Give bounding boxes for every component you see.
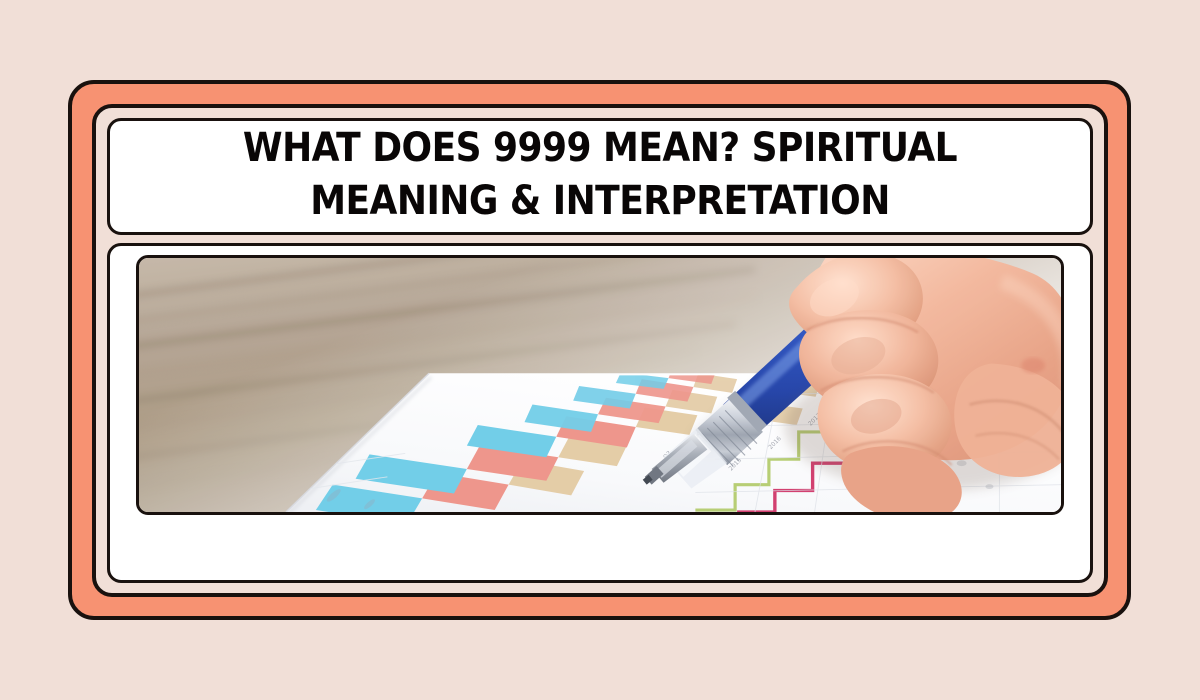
photo-illustration: 2015 2016 2017 Q3 Q4 r company — [139, 258, 1061, 512]
hero-photo: 2015 2016 2017 Q3 Q4 r company — [136, 255, 1064, 515]
page-title: What Does 9999 Mean? Spiritual Meaning &… — [173, 122, 1026, 228]
title-card: What Does 9999 Mean? Spiritual Meaning &… — [107, 118, 1093, 235]
